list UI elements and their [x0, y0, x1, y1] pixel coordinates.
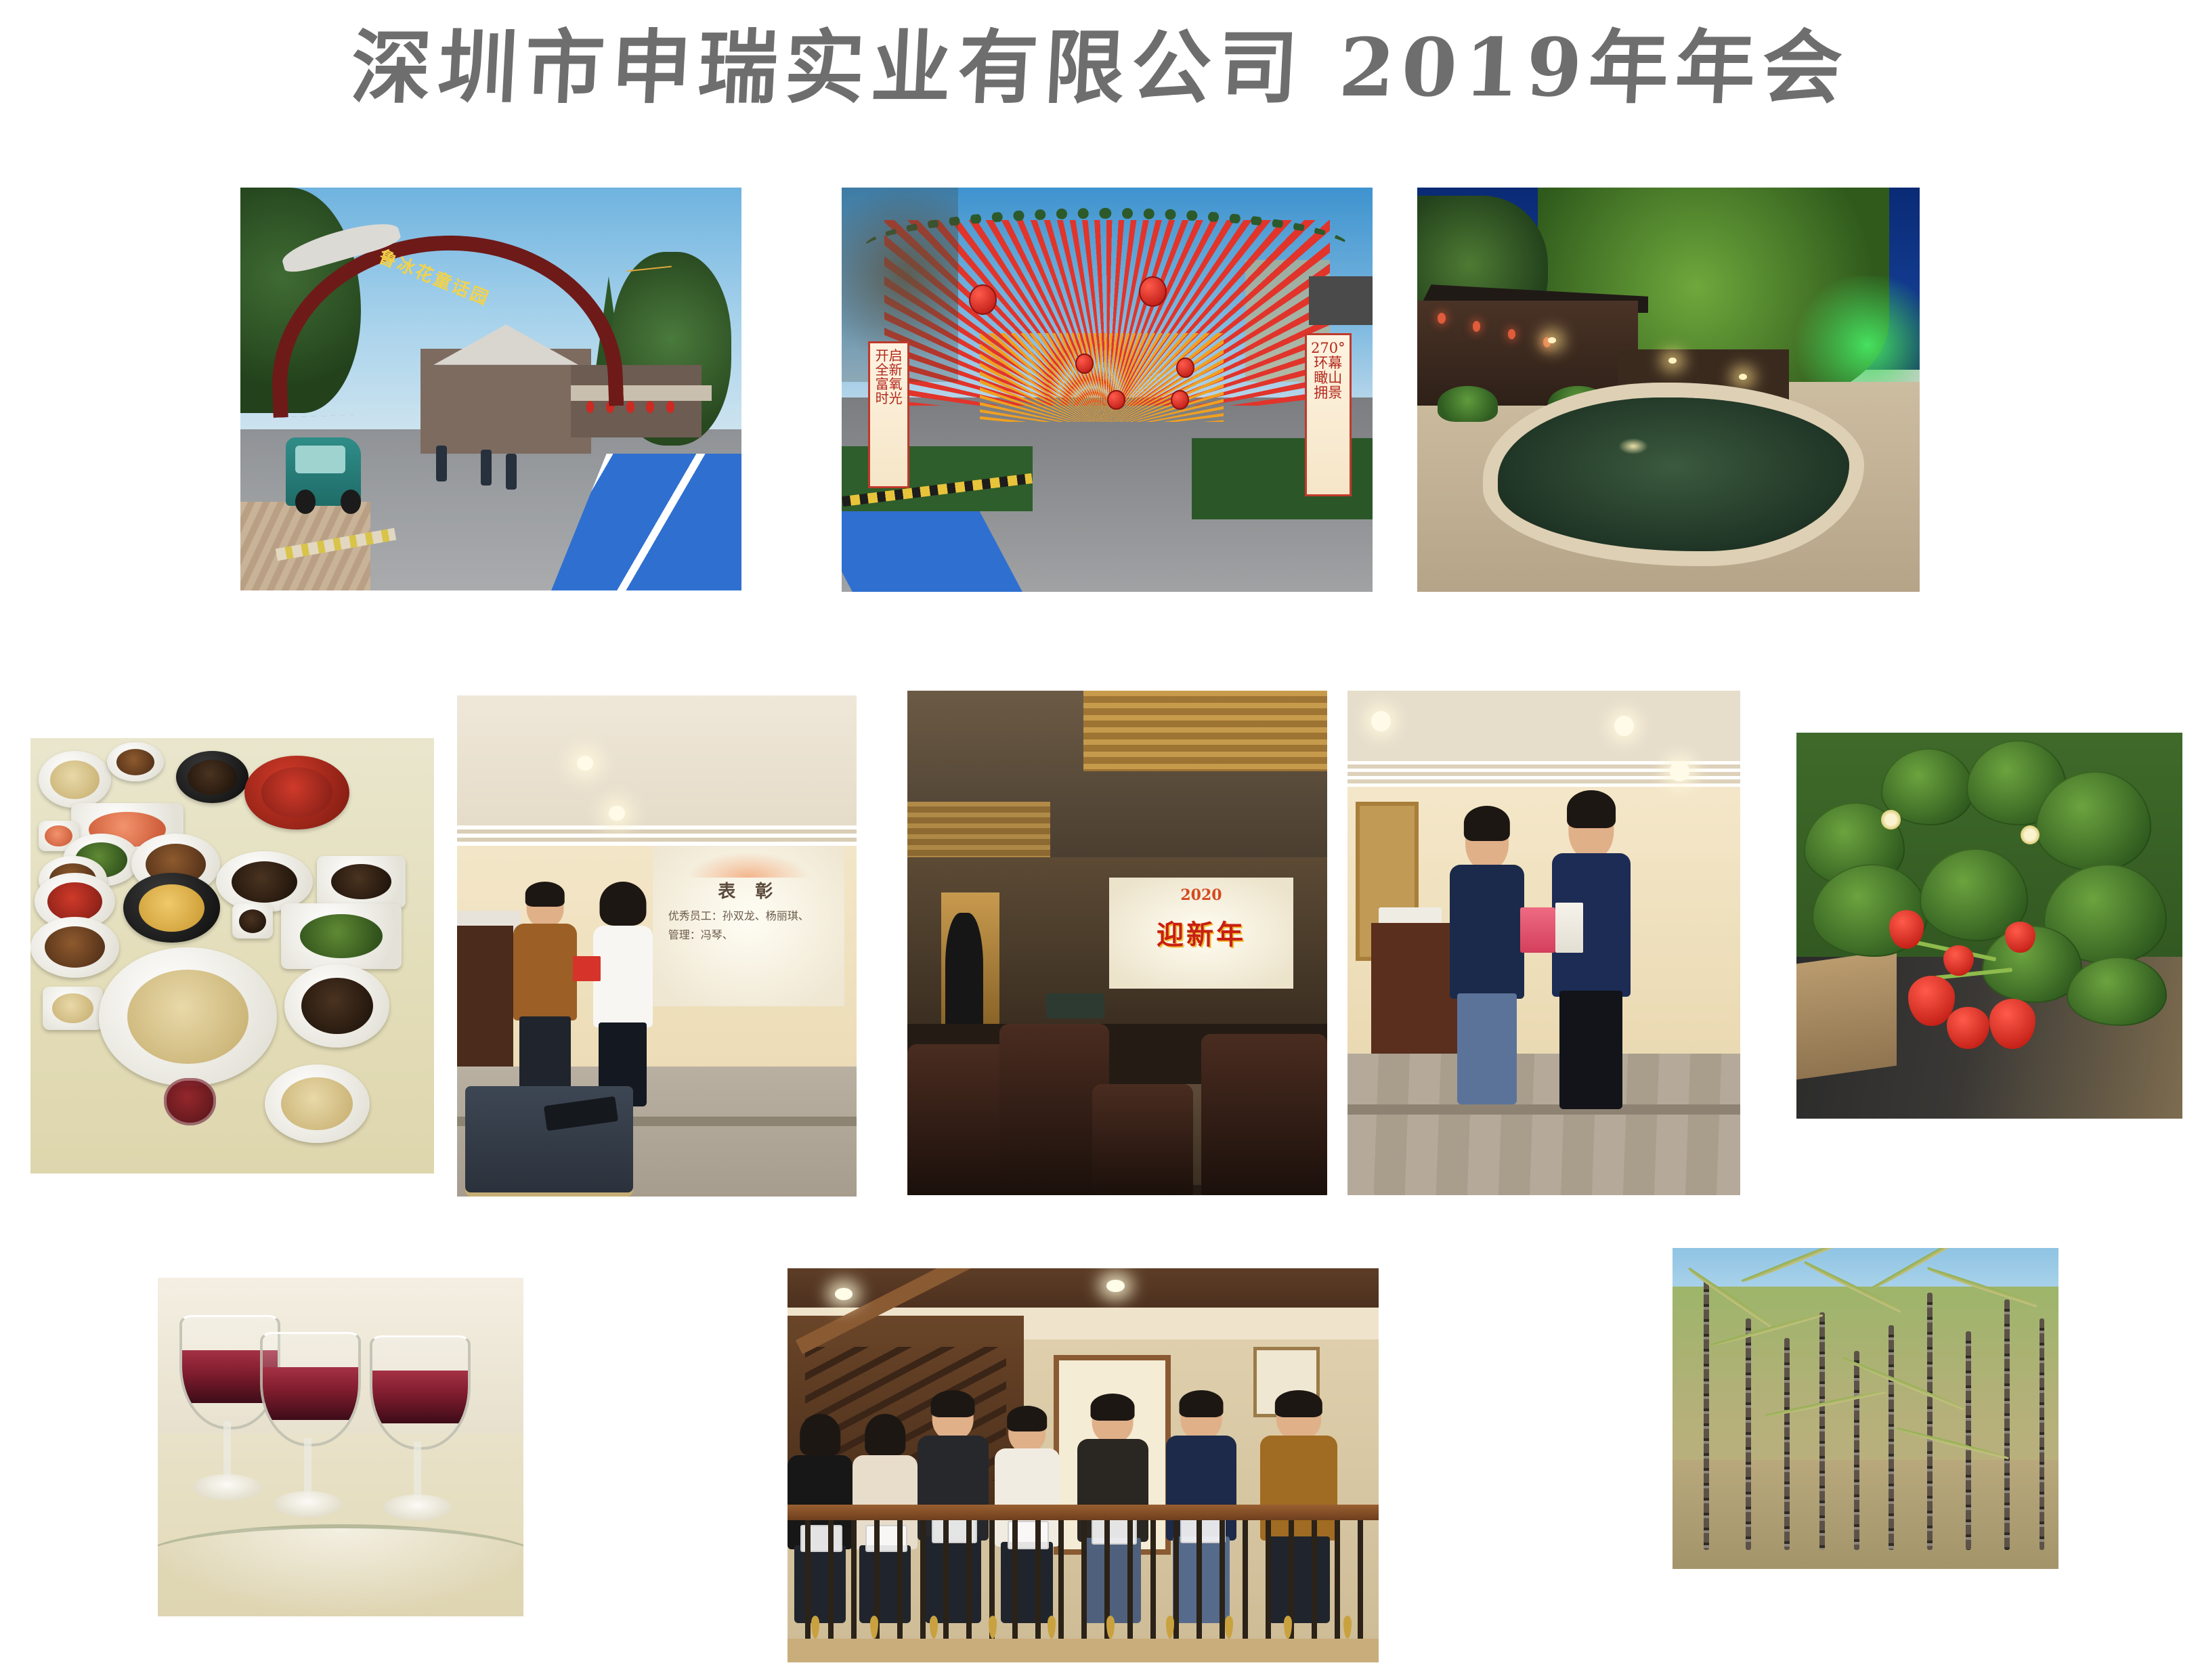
- glass-bowl: [370, 1335, 470, 1450]
- hair: [1007, 1406, 1048, 1431]
- downlight-icon: [1371, 711, 1391, 731]
- gate-canopy: [1309, 276, 1373, 325]
- banquet-table-scene: [30, 738, 434, 1173]
- tiled-floor: [1347, 1054, 1740, 1195]
- sugarcane-field-scene: [1673, 1248, 2058, 1569]
- slide-greeting: 迎新年: [1109, 913, 1294, 952]
- hair: [1464, 806, 1510, 841]
- hair: [1091, 1394, 1135, 1421]
- wine-glass: [164, 1078, 216, 1126]
- photo-new-year-projection: 2020 迎新年: [907, 691, 1327, 1195]
- pedestrian: [481, 450, 492, 486]
- award-presentation-scene: 表 彰 优秀员工：孙双龙、杨丽琪、 管理：冯琴、: [457, 695, 857, 1197]
- lantern-icon: [666, 401, 674, 413]
- hair: [1275, 1390, 1322, 1418]
- strawberry-field-scene: [1796, 733, 2182, 1119]
- glass-foot: [193, 1474, 261, 1501]
- person-awardee: [1552, 796, 1631, 1109]
- photo-wine-glasses: [158, 1278, 523, 1616]
- photo-award-presentation: 表 彰 优秀员工：孙双龙、杨丽琪、 管理：冯琴、: [457, 695, 857, 1197]
- dish-egg-claypot: [123, 873, 220, 943]
- floor-seam: [1347, 1104, 1740, 1115]
- photo-strawberry-field: [1796, 733, 2182, 1119]
- pedestrian: [436, 446, 447, 482]
- wine-liquid: [263, 1367, 358, 1420]
- soil-row: [1796, 949, 1897, 1079]
- dish-soup: [39, 751, 111, 808]
- hair: [931, 1390, 975, 1418]
- street-banner-right: 270°环幕瞰山拥景: [1305, 333, 1352, 496]
- dish-wood-ear: [284, 964, 389, 1047]
- glass-foot: [383, 1494, 452, 1521]
- glass-stem: [223, 1421, 231, 1478]
- photo-banquet-table: [30, 738, 434, 1173]
- wine-glasses-scene: [158, 1278, 523, 1616]
- photo-park-entrance: 鲁冰花童话园: [240, 188, 741, 590]
- glass-foot: [274, 1491, 342, 1517]
- hair: [1567, 790, 1616, 827]
- lantern-icon: [969, 284, 997, 315]
- dish-claypot: [176, 751, 249, 803]
- ground-litter: [1673, 1460, 2058, 1569]
- hair: [800, 1414, 840, 1455]
- group-balcony-scene: [788, 1268, 1379, 1662]
- trousers: [519, 1016, 571, 1096]
- person-manager: [1450, 812, 1524, 1104]
- sugarcane-stalk: [1784, 1338, 1790, 1550]
- jeans: [1457, 993, 1517, 1104]
- downlight-icon: [609, 806, 625, 821]
- hair: [525, 882, 565, 907]
- person-presenter: [513, 886, 577, 1096]
- lamp-icon: [1739, 374, 1747, 381]
- cart-wheel: [295, 490, 316, 514]
- downlight-icon: [577, 756, 593, 771]
- annual-meeting-photo-collage: 深圳市申瑞实业有限公司 2019年年会 鲁冰花童话园: [0, 0, 2200, 1680]
- sugarcane-stalk: [2040, 1318, 2045, 1549]
- shrub: [1438, 386, 1498, 423]
- lantern-icon: [1438, 313, 1446, 324]
- lantern-icon: [1473, 321, 1481, 332]
- street-banner-left: 开启全新富氧时光: [868, 341, 909, 488]
- glass-bowl: [260, 1332, 360, 1446]
- dish-main-platter: [99, 947, 276, 1087]
- lantern-icon: [1171, 390, 1189, 410]
- gift-box: [1520, 907, 1555, 953]
- wine-liquid: [372, 1371, 467, 1423]
- sugarcane-stalk: [1889, 1325, 1894, 1550]
- sugarcane-stalk: [1704, 1280, 1709, 1549]
- projection-screen: 表 彰 优秀员工：孙双龙、杨丽琪、 管理：冯琴、: [653, 846, 844, 1006]
- photo-group-balcony: [788, 1268, 1379, 1662]
- sugarcane-stalk: [1966, 1331, 1971, 1549]
- projector: [1046, 993, 1105, 1018]
- dish-condiment: [232, 903, 273, 938]
- slide-title: 表 彰: [653, 878, 844, 903]
- dish-garlic-sprout: [281, 903, 402, 968]
- trousers: [1559, 991, 1622, 1110]
- lazy-susan-edge: [158, 1524, 523, 1616]
- lantern-icon: [626, 401, 634, 413]
- projection-screen: 2020 迎新年: [1109, 878, 1294, 989]
- slide-line-1: 优秀员工：孙双龙、杨丽琪、: [668, 907, 809, 923]
- sugarcane-stalk: [2004, 1299, 2010, 1550]
- photo-sugarcane-field: [1673, 1248, 2058, 1569]
- wine-glass: [260, 1332, 355, 1522]
- lower-floor-band: [788, 1639, 1379, 1662]
- ceiling-cove-light: [907, 802, 1050, 862]
- night-pond-scene: [1417, 188, 1920, 592]
- ceiling: [457, 695, 857, 846]
- ceiling-light-icon: [835, 1288, 853, 1299]
- cart-window: [295, 446, 345, 474]
- award-pair-scene: [1347, 691, 1740, 1195]
- photo-lantern-street: 开启全新富氧时光 270°环幕瞰山拥景: [842, 188, 1373, 592]
- lantern-street-scene: 开启全新富氧时光 270°环幕瞰山拥景: [842, 188, 1373, 592]
- sugarcane-stalk: [1746, 1318, 1751, 1549]
- certificate: [573, 956, 601, 981]
- armchair: [1092, 1084, 1193, 1195]
- ceiling-light-icon: [1106, 1280, 1124, 1291]
- park-entrance-scene: 鲁冰花童话园: [240, 188, 741, 590]
- dish-small: [107, 742, 163, 781]
- courtyard-pond: [1498, 397, 1849, 551]
- slide-line-2: 管理：冯琴、: [668, 926, 733, 942]
- pedestrian: [506, 454, 517, 490]
- glass-stem: [304, 1438, 311, 1495]
- dish-side: [317, 856, 406, 908]
- light-reflection: [1618, 438, 1649, 454]
- wine-glass: [370, 1335, 465, 1525]
- balcony-handrail: [788, 1505, 1379, 1520]
- slide-decoration: [687, 852, 810, 878]
- hair: [865, 1414, 905, 1455]
- slide-year: 2020: [1109, 886, 1294, 904]
- sweater: [1450, 865, 1524, 999]
- side-cabinet: [1371, 923, 1458, 1054]
- lantern-icon: [1139, 276, 1167, 307]
- new-year-projection-scene: 2020 迎新年: [907, 691, 1327, 1195]
- dish-minced-garlic: [43, 987, 103, 1030]
- person-awardee: [593, 886, 653, 1106]
- lantern-icon: [1075, 353, 1094, 374]
- certificate: [1555, 903, 1583, 953]
- shirt: [513, 924, 577, 1020]
- sugarcane-stalk: [1854, 1351, 1859, 1550]
- photo-night-pond: [1417, 188, 1920, 592]
- dish-sliced-meat: [30, 917, 119, 978]
- lantern-icon: [1176, 358, 1194, 378]
- dish-bamboo-shoot: [265, 1064, 370, 1143]
- dish-red-bowl: [244, 756, 349, 830]
- page-title: 深圳市申瑞实业有限公司 2019年年会: [0, 20, 2200, 115]
- strawberry-flower: [1881, 810, 1901, 830]
- side-cabinet: [457, 926, 513, 1066]
- ceiling-cove-light: [1083, 691, 1327, 771]
- cart-wheel: [341, 490, 361, 514]
- sweater: [593, 926, 653, 1027]
- hair: [599, 882, 646, 926]
- hair: [1180, 1390, 1224, 1418]
- lantern-icon: [1107, 390, 1125, 410]
- downlight-icon: [1670, 761, 1689, 781]
- sugarcane-stalk: [1927, 1293, 1933, 1549]
- photo-award-pair: [1347, 691, 1740, 1195]
- sugarcane-stalk: [1819, 1312, 1825, 1550]
- armchair: [1201, 1034, 1327, 1195]
- lamp-icon: [1668, 358, 1677, 364]
- glass-stem: [414, 1442, 421, 1499]
